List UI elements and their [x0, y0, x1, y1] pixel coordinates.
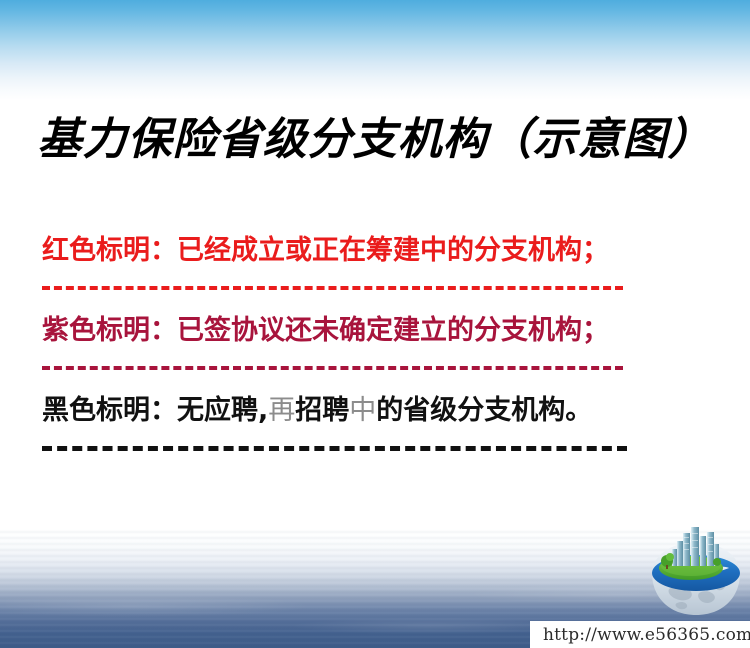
legend-row-red: 红色标明：已经成立或正在筹建中的分支机构； [42, 232, 682, 272]
legend-divider-black [42, 446, 627, 451]
url-plate: http://www.e56365.com [530, 621, 750, 648]
legend-gap-2 [42, 356, 682, 392]
legend-seg-2: 再 [268, 395, 295, 426]
legend-seg-5: 的省级分支机构。 [376, 395, 592, 426]
globe-city-logo [647, 523, 745, 619]
legend-row-black: 黑色标明：无应聘,再招聘中的省级分支机构。 [42, 392, 682, 432]
legend-seg-3: 招聘 [295, 395, 349, 426]
legend-label-purple: 紫色标明：已签协议还未确定建立的分支机构； [42, 312, 682, 350]
legend-label-red: 红色标明：已经成立或正在筹建中的分支机构； [42, 232, 682, 270]
legend-gap-3 [42, 437, 682, 469]
legend-seg-1: 黑色标明：无应聘, [42, 395, 268, 426]
page-title: 基力保险省级分支机构（示意图） [0, 103, 750, 167]
legend-block: 红色标明：已经成立或正在筹建中的分支机构； 紫色标明：已签协议还未确定建立的分支… [42, 232, 682, 469]
legend-divider-red [42, 286, 623, 290]
legend-row-purple: 紫色标明：已签协议还未确定建立的分支机构； [42, 312, 682, 352]
legend-gap-1 [42, 276, 682, 312]
legend-label-black: 黑色标明：无应聘,再招聘中的省级分支机构。 [42, 392, 682, 430]
slide-canvas: 基力保险省级分支机构（示意图） 红色标明：已经成立或正在筹建中的分支机构； 紫色… [0, 0, 750, 648]
legend-seg-4: 中 [349, 395, 376, 426]
legend-divider-purple [42, 366, 623, 370]
sky-gradient-band [0, 0, 750, 100]
globe-city-buildings [672, 527, 719, 566]
site-url-text: http://www.e56365.com [530, 625, 750, 645]
